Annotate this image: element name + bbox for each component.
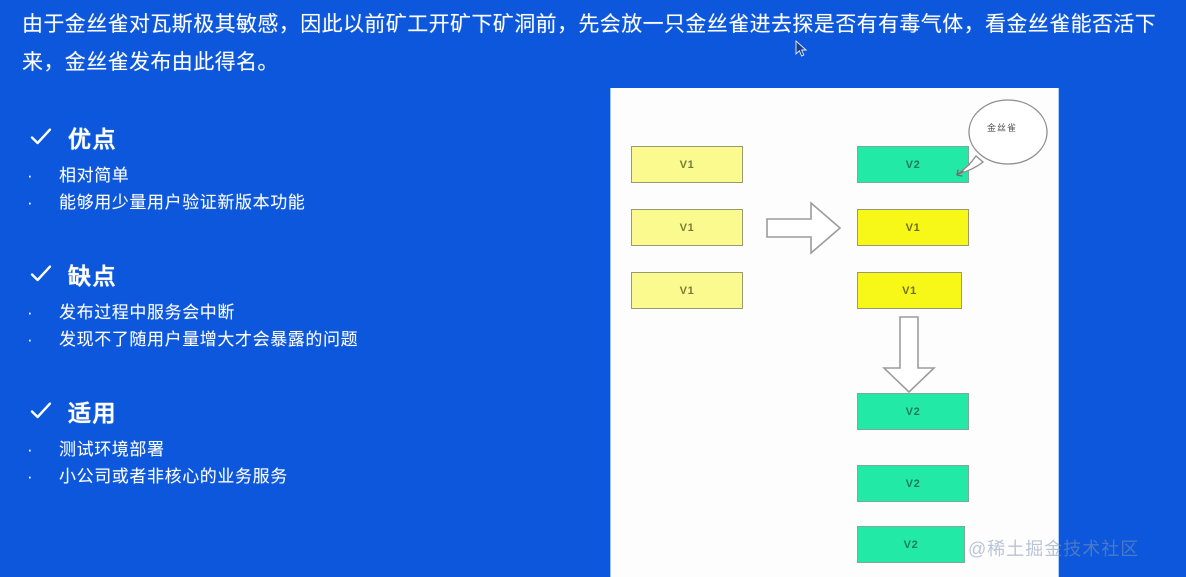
section-pros-header: 优点 — [0, 120, 600, 154]
section-usage-header: 适用 — [0, 394, 600, 428]
bullet-marker: · — [27, 189, 37, 216]
canary-release-diagram: V1 V1 V1 V2 V1 V1 V — [611, 88, 1058, 577]
version-box-label: V1 — [680, 285, 695, 297]
section-usage-bullets: · 测试环境部署 · 小公司或者非核心的业务服务 — [0, 436, 600, 490]
version-box-right-3: V1 — [857, 272, 962, 309]
header-paragraph: 由于金丝雀对瓦斯极其敏感，因此以前矿工开矿下矿洞前，先会放一只金丝雀进去探是否有… — [22, 6, 1174, 82]
version-box-label: V2 — [904, 539, 919, 551]
bullet-marker: · — [27, 436, 37, 463]
version-box-left-2: V1 — [631, 209, 743, 246]
watermark: @稀土掘金技术社区 — [968, 535, 1139, 561]
mouse-pointer-icon — [795, 40, 807, 58]
list-item-label: 发布过程中服务会中断 — [59, 299, 235, 326]
list-item: · 发现不了随用户量增大才会暴露的问题 — [0, 326, 600, 353]
version-box-label: V1 — [680, 222, 695, 234]
version-box-right-1: V2 — [857, 146, 969, 183]
section-cons-title: 缺点 — [68, 257, 117, 291]
slide-canvas: 由于金丝雀对瓦斯极其敏感，因此以前矿工开矿下矿洞前，先会放一只金丝雀进去探是否有… — [0, 0, 1186, 577]
speech-bubble-icon — [956, 96, 1052, 178]
section-pros-title: 优点 — [68, 120, 117, 154]
check-icon — [30, 400, 52, 422]
version-box-right-6: V2 — [857, 526, 965, 563]
list-item: · 发布过程中服务会中断 — [0, 299, 600, 326]
section-pros: 优点 · 相对简单 · 能够用少量用户验证新版本功能 — [0, 120, 600, 216]
check-icon — [30, 263, 52, 285]
bullet-marker: · — [27, 463, 37, 490]
version-box-label: V1 — [902, 285, 917, 297]
version-box-left-3: V1 — [631, 272, 743, 309]
section-cons-header: 缺点 — [0, 257, 600, 291]
list-item-label: 发现不了随用户量增大才会暴露的问题 — [59, 326, 358, 353]
list-item: · 小公司或者非核心的业务服务 — [0, 463, 600, 490]
version-box-right-4: V2 — [857, 393, 969, 430]
list-item: · 能够用少量用户验证新版本功能 — [0, 189, 600, 216]
section-pros-bullets: · 相对简单 · 能够用少量用户验证新版本功能 — [0, 162, 600, 216]
list-item-label: 相对简单 — [59, 162, 129, 189]
list-item-label: 小公司或者非核心的业务服务 — [59, 463, 288, 490]
bullet-marker: · — [27, 299, 37, 326]
bullet-marker: · — [27, 162, 37, 189]
version-box-label: V1 — [906, 222, 921, 234]
version-box-label: V1 — [680, 159, 695, 171]
list-item: · 相对简单 — [0, 162, 600, 189]
arrow-down-icon — [881, 316, 937, 394]
version-box-label: V2 — [906, 406, 921, 418]
bullet-marker: · — [27, 326, 37, 353]
section-cons: 缺点 · 发布过程中服务会中断 · 发现不了随用户量增大才会暴露的问题 — [0, 257, 600, 353]
list-item-label: 测试环境部署 — [59, 436, 165, 463]
version-box-left-1: V1 — [631, 146, 743, 183]
arrow-right-icon — [766, 200, 842, 256]
list-item: · 测试环境部署 — [0, 436, 600, 463]
version-box-right-2: V1 — [857, 209, 969, 246]
check-icon — [30, 126, 52, 148]
version-box-label: V2 — [906, 159, 921, 171]
version-box-label: V2 — [906, 478, 921, 490]
section-cons-bullets: · 发布过程中服务会中断 · 发现不了随用户量增大才会暴露的问题 — [0, 299, 600, 353]
canary-callout-label: 金丝雀 — [966, 121, 1038, 134]
list-item-label: 能够用少量用户验证新版本功能 — [59, 189, 305, 216]
section-usage-title: 适用 — [68, 394, 117, 428]
version-box-right-5: V2 — [857, 465, 969, 502]
section-usage: 适用 · 测试环境部署 · 小公司或者非核心的业务服务 — [0, 394, 600, 490]
